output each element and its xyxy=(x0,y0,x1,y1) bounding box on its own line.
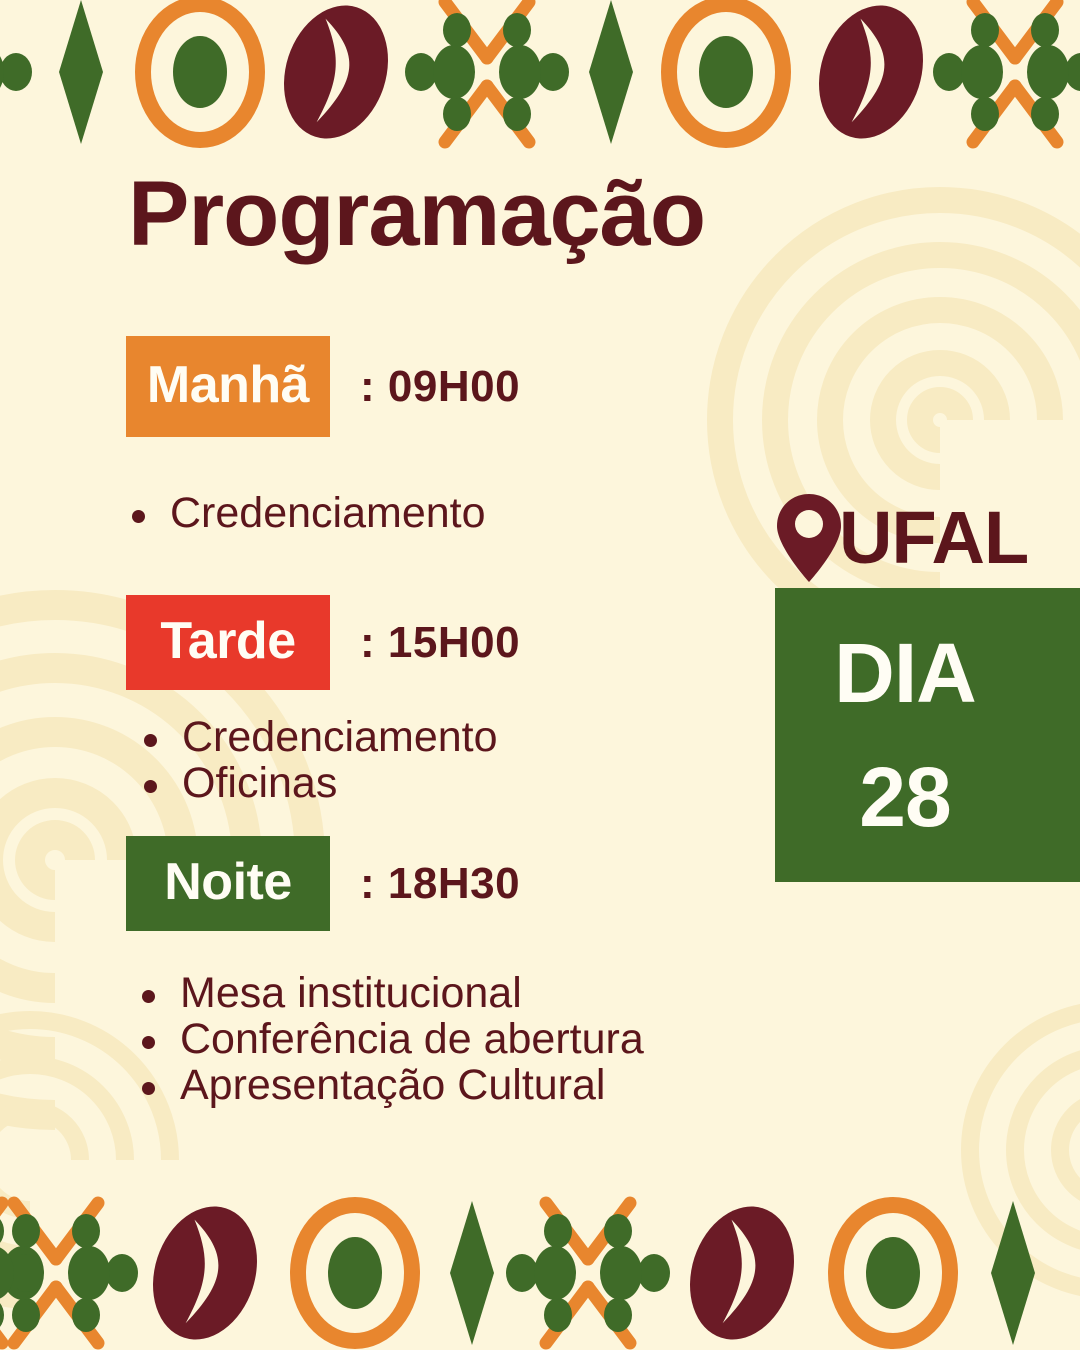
schedule-slot-noite: Noite : 18H30 xyxy=(126,836,520,931)
list-item: Credenciamento xyxy=(140,714,498,760)
poster-content: Programação Manhã : 09H00 Credenciamento… xyxy=(0,0,1080,1350)
list-item: Apresentação Cultural xyxy=(138,1062,644,1108)
location-pin-icon xyxy=(775,492,843,584)
slot-time-tarde: : 15H00 xyxy=(360,618,520,668)
poster-canvas: Programação Manhã : 09H00 Credenciamento… xyxy=(0,0,1080,1350)
schedule-slot-manha: Manhã : 09H00 xyxy=(126,336,520,437)
slot-time-noite: : 18H30 xyxy=(360,859,520,909)
list-item: Oficinas xyxy=(140,760,498,806)
date-number: 28 xyxy=(859,755,950,839)
bottom-ornament-border xyxy=(0,1195,1080,1350)
slot-badge-noite: Noite xyxy=(126,836,330,931)
slot-time-manha: : 09H00 xyxy=(360,362,520,412)
slot-items-tarde: Credenciamento Oficinas xyxy=(140,714,498,806)
slot-items-manha: Credenciamento xyxy=(128,490,486,536)
venue-block: UFAL xyxy=(775,492,1028,584)
schedule-slot-tarde: Tarde : 15H00 xyxy=(126,595,520,690)
list-item: Conferência de abertura xyxy=(138,1016,644,1062)
top-ornament-border xyxy=(0,0,1080,150)
venue-label: UFAL xyxy=(839,501,1028,575)
slot-badge-tarde: Tarde xyxy=(126,595,330,690)
slot-items-noite: Mesa institucional Conferência de abertu… xyxy=(138,970,644,1108)
date-word: DIA xyxy=(834,631,976,715)
list-item: Credenciamento xyxy=(128,490,486,536)
page-title: Programação xyxy=(128,168,705,260)
list-item: Mesa institucional xyxy=(138,970,644,1016)
date-box: DIA 28 xyxy=(775,588,1080,882)
slot-badge-manha: Manhã xyxy=(126,336,330,437)
